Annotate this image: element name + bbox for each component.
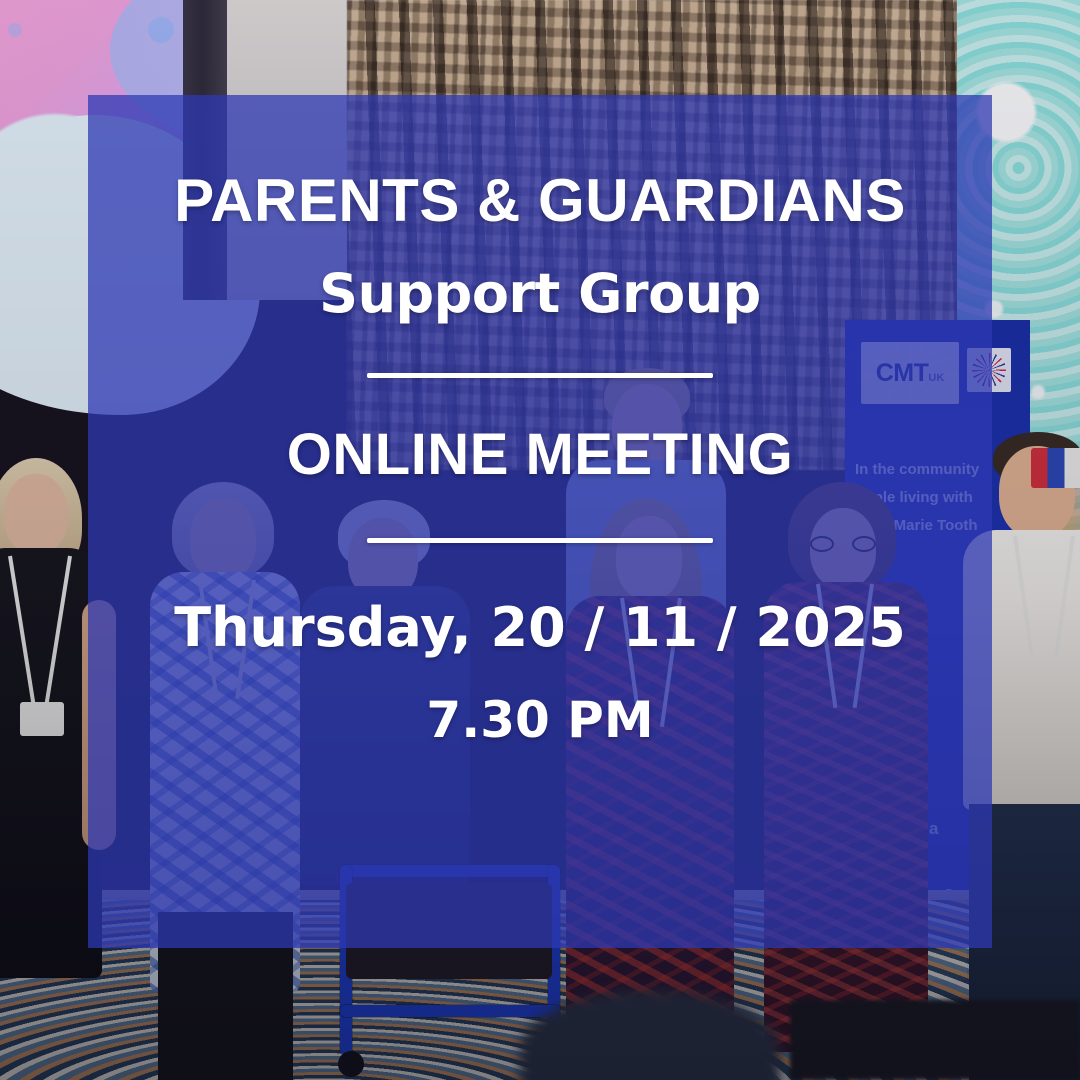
blue-overlay-panel: PARENTS & GUARDIANS Support Group ONLINE… [88, 95, 992, 948]
divider-top [367, 373, 713, 378]
poster-headline: PARENTS & GUARDIANS [174, 171, 906, 231]
event-time: 7.30 PM [426, 695, 653, 745]
poster-subheadline: Support Group [319, 267, 761, 321]
poster-content: PARENTS & GUARDIANS Support Group ONLINE… [88, 95, 992, 948]
event-date: Thursday, 20 / 11 / 2025 [174, 601, 905, 655]
divider-bottom [367, 538, 713, 543]
event-poster: CMTUK In the community people living wit… [0, 0, 1080, 1080]
meeting-type-label: ONLINE MEETING [287, 426, 793, 484]
